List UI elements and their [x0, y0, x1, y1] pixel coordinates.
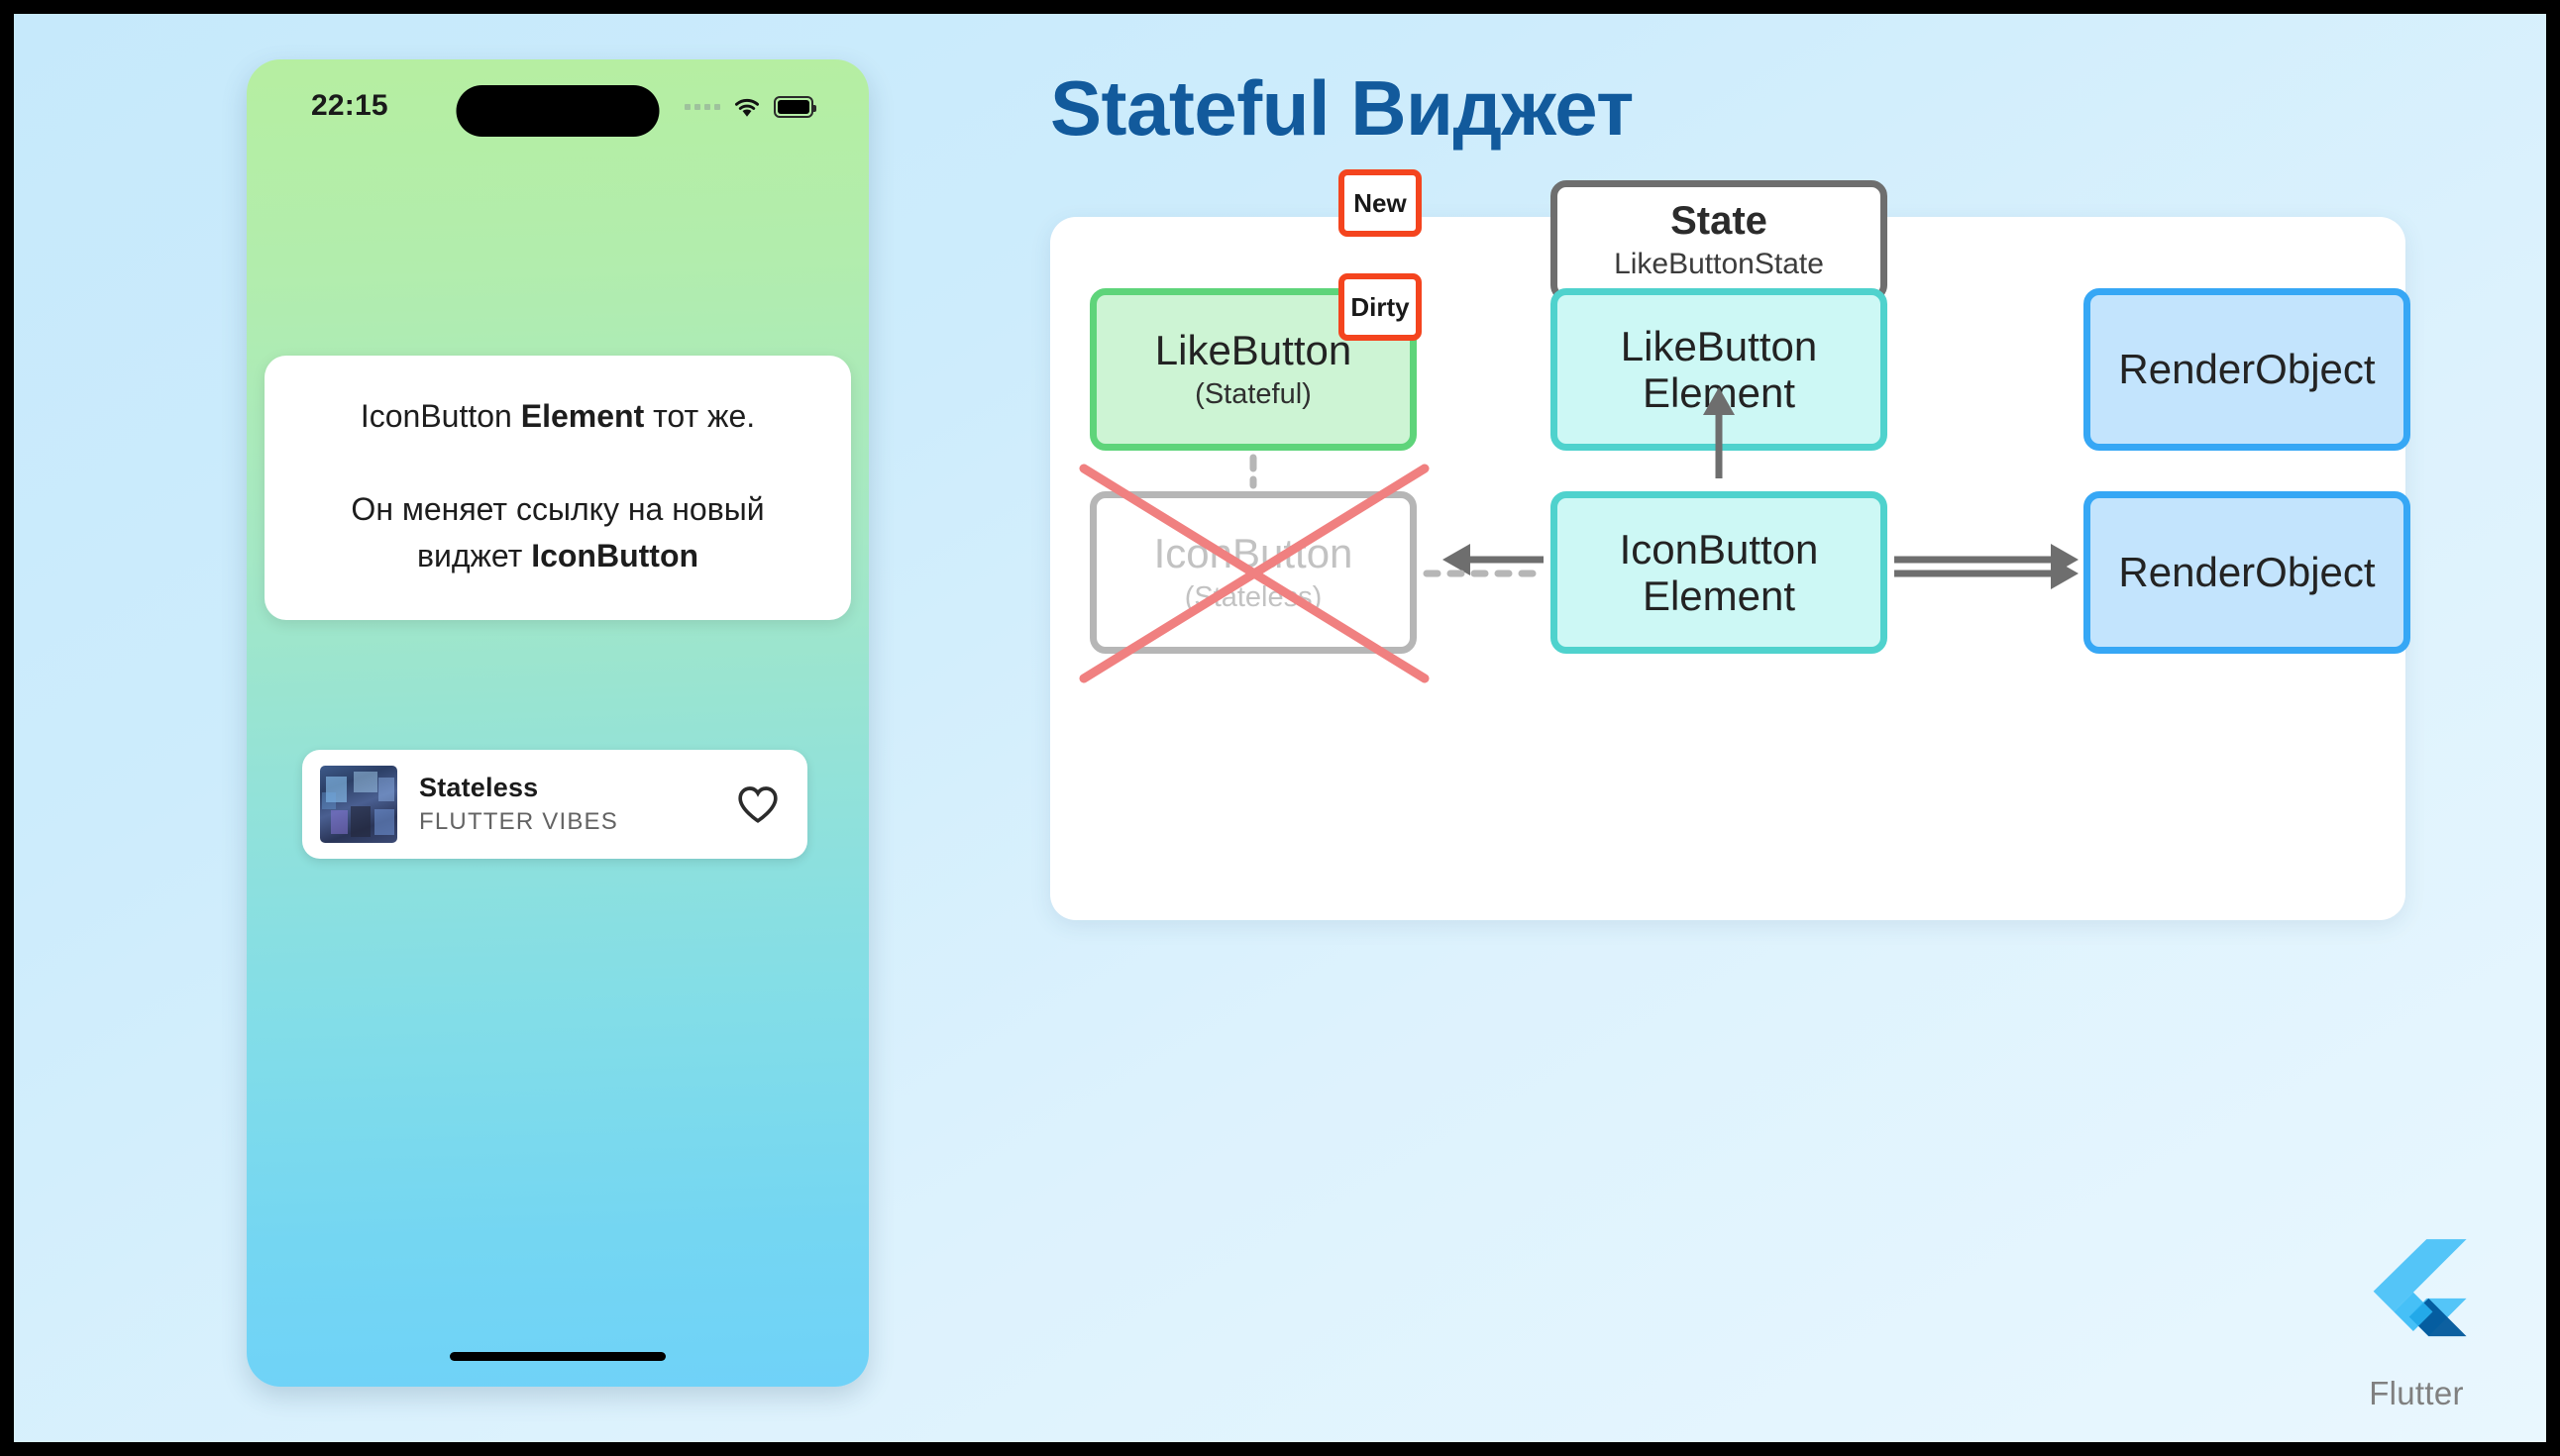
connector-element-to-state — [1703, 387, 1735, 478]
phone-mockup: 22:15 IconButton Element тот же. Он меня… — [247, 59, 869, 1387]
info-line1-bold: Element — [521, 398, 644, 434]
song-card[interactable]: Stateless FLUTTER VIBES — [302, 750, 807, 859]
song-title: Stateless — [419, 773, 730, 803]
badge-new: New — [1338, 169, 1422, 237]
badge-dirty-label: Dirty — [1350, 292, 1409, 323]
slide-canvas: 22:15 IconButton Element тот же. Он меня… — [14, 14, 2546, 1442]
info-line1-suffix: тот же. — [644, 398, 755, 434]
status-bar-time: 22:15 — [311, 89, 388, 123]
album-art — [320, 766, 397, 843]
info-card-line-1: IconButton Element тот же. — [304, 393, 811, 439]
badge-dirty: Dirty — [1338, 273, 1422, 341]
info-card: IconButton Element тот же. Он меняет ссы… — [265, 356, 851, 620]
diagram-card: State LikeButtonState LikeButton (Statef… — [1050, 217, 2405, 920]
song-card-text: Stateless FLUTTER VIBES — [419, 773, 730, 836]
home-indicator — [450, 1352, 666, 1361]
diagram-connectors — [1050, 217, 2405, 920]
status-bar: 22:15 — [247, 59, 869, 151]
song-subtitle: FLUTTER VIBES — [419, 808, 730, 836]
info-card-line-2: Он меняет ссылку на новый виджет IconBut… — [304, 486, 811, 578]
flutter-wordmark: Flutter — [2332, 1375, 2501, 1412]
status-bar-indicators — [685, 95, 813, 118]
dynamic-island-notch — [457, 85, 660, 137]
heart-outline-icon — [736, 784, 780, 824]
battery-icon — [774, 96, 813, 118]
widget-tree-diagram: State LikeButtonState LikeButton (Statef… — [1050, 217, 2405, 920]
flutter-logo-icon — [2362, 1237, 2471, 1364]
info-line1-prefix: IconButton — [361, 398, 521, 434]
signal-dots-icon — [685, 104, 720, 110]
like-button[interactable] — [730, 777, 786, 832]
info-line2-bold: IconButton — [531, 538, 698, 573]
badge-new-label: New — [1353, 188, 1406, 219]
flutter-branding: Flutter — [2332, 1237, 2501, 1412]
wifi-icon — [732, 95, 762, 118]
page-title: Stateful Виджет — [1050, 63, 1634, 154]
